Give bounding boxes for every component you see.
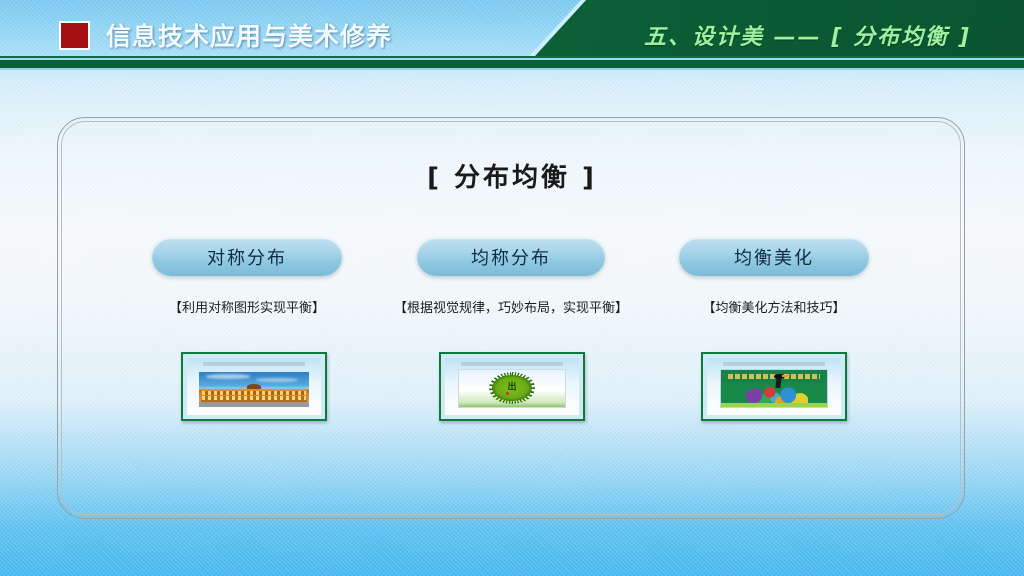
header-title-left: 信息技术应用与美术修养 [106, 17, 392, 53]
pill-button-symmetric-distribution[interactable]: 对称分布 [152, 238, 342, 276]
peacock-base-band [721, 403, 826, 407]
thumbnail-slide-canvas [187, 358, 321, 415]
palace-window-row [202, 396, 305, 399]
pill-label: 均衡美化 [734, 244, 814, 270]
pill-label: 对称分布 [207, 244, 287, 270]
peacock-beak-shape [782, 375, 789, 377]
pill-button-balance-beautification[interactable]: 均衡美化 [679, 238, 869, 276]
palace-window-row [202, 391, 305, 395]
palace-ground-shape [199, 402, 309, 407]
emblem-red-dot [506, 392, 509, 395]
pill-label: 均称分布 [471, 244, 551, 270]
thumbnail-title-placeholder [461, 362, 563, 366]
palace-photo-icon [199, 372, 309, 407]
thumbnail-colorful-peacock[interactable] [701, 352, 847, 421]
cloud-shape [256, 378, 298, 382]
thumbnail-slide-canvas: 出 [445, 358, 579, 415]
thumbnail-symmetric-palace[interactable] [181, 352, 327, 421]
caption-symmetric-distribution: 【利用对称图形实现平衡】 [152, 297, 342, 316]
thumbnail-title-placeholder [723, 362, 825, 366]
caption-even-distribution: 【根据视觉规律，巧妙布局，实现平衡】 [374, 297, 648, 316]
thumbnail-green-emblem[interactable]: 出 [439, 352, 585, 421]
slide-header: 信息技术应用与美术修养 五、设计美 —— [ 分布均衡 ] [0, 0, 1024, 70]
header-stripe-thick [0, 60, 1024, 68]
peacock-slide-page [720, 369, 827, 408]
page-title: [ 分布均衡 ] [0, 157, 1024, 194]
emblem-slide-page: 出 [458, 369, 565, 408]
thumbnail-slide-canvas [707, 358, 841, 415]
caption-balance-beautification: 【均衡美化方法和技巧】 [679, 297, 869, 316]
red-square-logo-icon [59, 21, 90, 50]
slide-canvas: 信息技术应用与美术修养 五、设计美 —— [ 分布均衡 ] [ 分布均衡 ] 对… [0, 0, 1024, 576]
header-stripe-bottom [0, 68, 1024, 70]
header-title-right: 五、设计美 —— [ 分布均衡 ] [644, 19, 971, 51]
pill-button-even-distribution[interactable]: 均称分布 [417, 238, 605, 276]
emblem-glyph: 出 [507, 383, 516, 392]
thumbnail-title-placeholder [203, 362, 305, 366]
cloud-shape [206, 374, 250, 378]
